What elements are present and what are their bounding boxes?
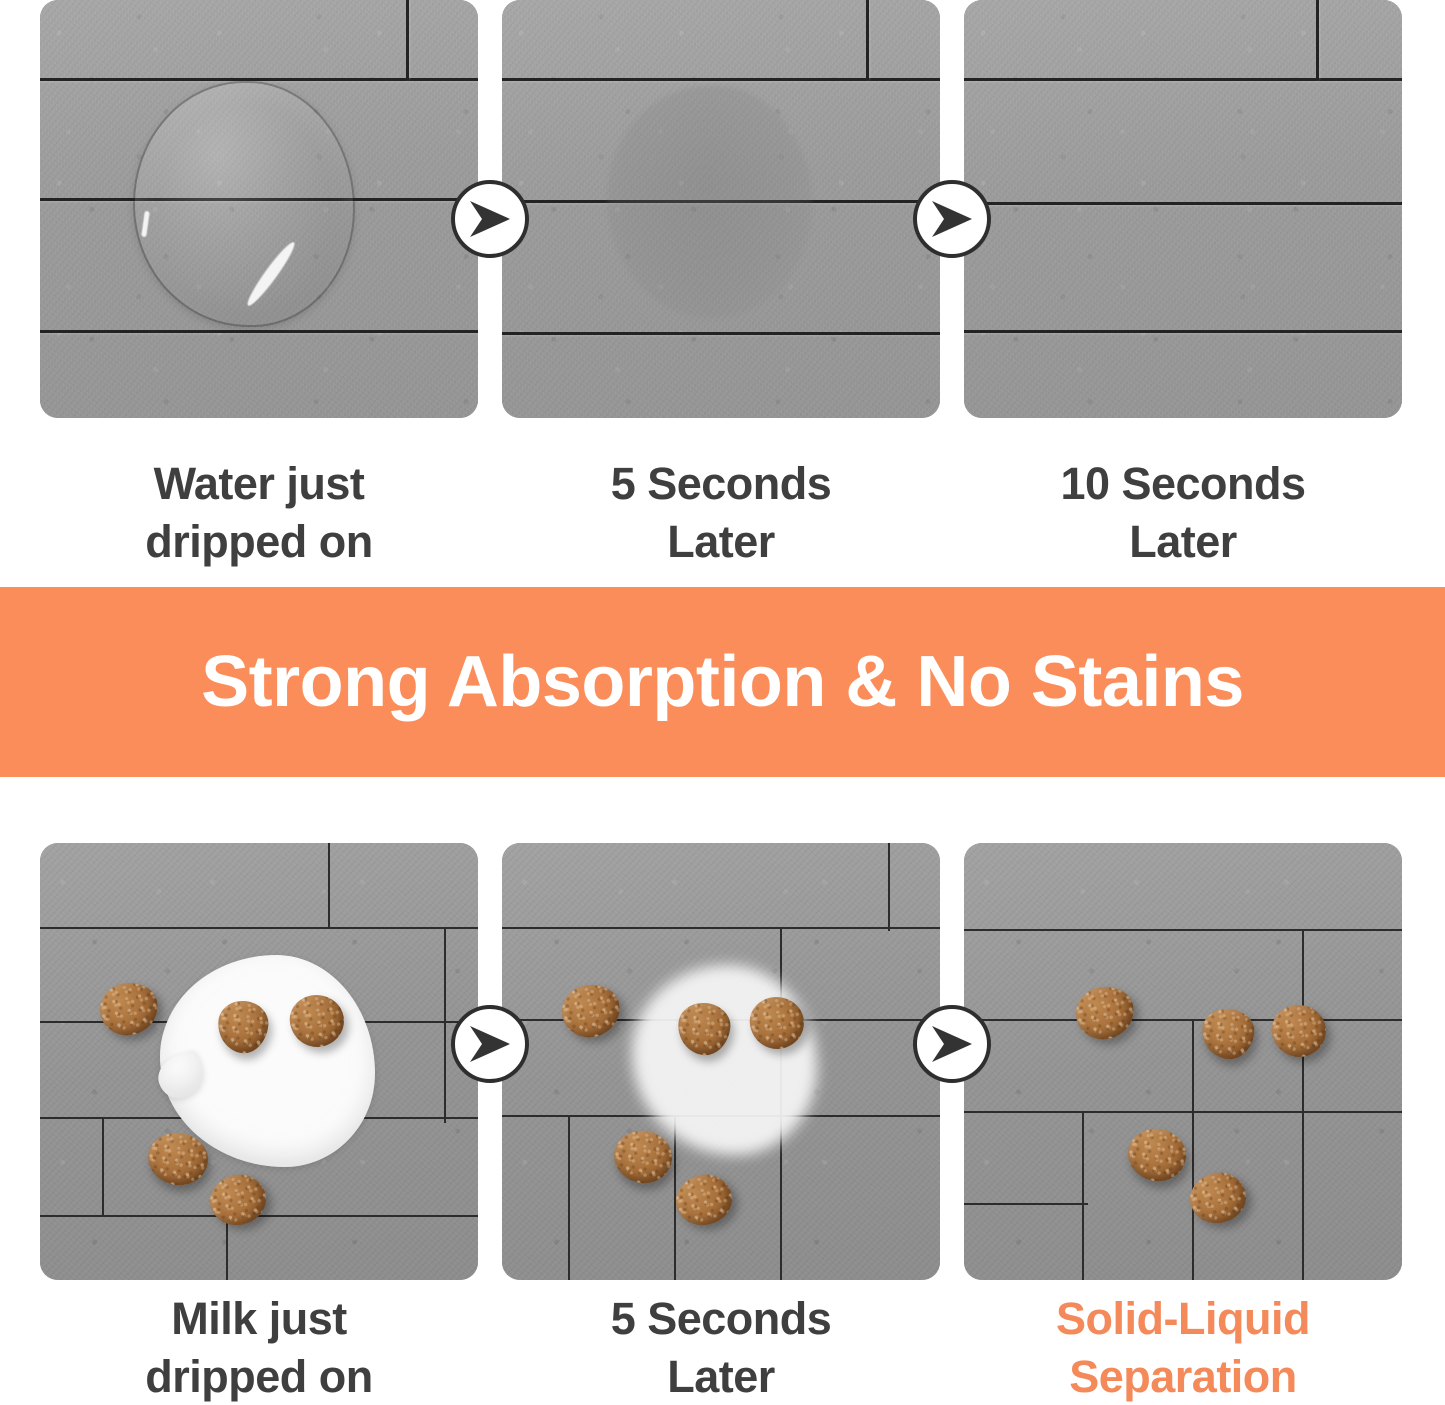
infographic-root: Water just dripped on 5 Seconds Later 10… [0, 0, 1445, 1395]
grout-line-vertical [226, 1215, 228, 1280]
grout-line-vertical [1192, 1019, 1194, 1280]
grout-line-horizontal [502, 927, 940, 929]
grout-line-vertical [406, 0, 409, 80]
grout-line-vertical [1302, 929, 1304, 1280]
droplet-highlight [141, 211, 150, 237]
grout-line-horizontal [964, 929, 1402, 931]
grout-line-vertical [568, 1115, 570, 1280]
photo-panel-milk-separation [964, 843, 1402, 1280]
caption-milk-5-seconds: 5 Seconds Later [502, 1290, 940, 1405]
chevron-right-arrow-icon [451, 1005, 529, 1083]
grout-line-vertical [1316, 0, 1319, 80]
chevron-right-arrow-icon [913, 180, 991, 258]
grout-line-horizontal [964, 1019, 1402, 1021]
grout-line-vertical [102, 1117, 104, 1217]
grout-line-horizontal [40, 927, 478, 929]
grout-line-horizontal [40, 78, 478, 81]
grout-line-vertical [1082, 1111, 1084, 1280]
grout-line-vertical [866, 0, 869, 80]
damp-patch [607, 86, 812, 318]
grout-line-horizontal [964, 78, 1402, 81]
photo-panel-water-5-seconds [502, 0, 940, 418]
grout-line-vertical [328, 843, 330, 929]
chevron-right-arrow-icon [913, 1005, 991, 1083]
droplet-highlight [243, 239, 299, 309]
grout-line-horizontal [964, 202, 1402, 205]
caption-water-10-seconds: 10 Seconds Later [964, 455, 1402, 570]
chevron-right-arrow-icon [451, 180, 529, 258]
caption-water-just-dripped: Water just dripped on [40, 455, 478, 570]
grout-line-horizontal [40, 330, 478, 333]
photo-panel-water-just-dripped [40, 0, 478, 418]
grout-line-horizontal [964, 1111, 1402, 1113]
caption-milk-just-dripped: Milk just dripped on [40, 1290, 478, 1405]
grout-line-horizontal [502, 332, 940, 335]
grout-line-horizontal [964, 330, 1402, 333]
grout-line-vertical [888, 843, 890, 931]
stone-mat-texture [964, 843, 1402, 1280]
photo-panel-milk-5-seconds [502, 843, 940, 1280]
stone-mat-texture [964, 0, 1402, 418]
photo-panel-water-10-seconds [964, 0, 1402, 418]
photo-panel-milk-just-dripped [40, 843, 478, 1280]
grout-line-horizontal [502, 78, 940, 81]
grout-line-vertical [444, 927, 446, 1123]
highlight-banner: Strong Absorption & No Stains [0, 587, 1445, 777]
banner-headline: Strong Absorption & No Stains [201, 641, 1244, 723]
caption-milk-separation: Solid-Liquid Separation [964, 1290, 1402, 1405]
caption-water-5-seconds: 5 Seconds Later [502, 455, 940, 570]
grout-line-horizontal [964, 1203, 1088, 1205]
water-droplet [135, 83, 353, 325]
